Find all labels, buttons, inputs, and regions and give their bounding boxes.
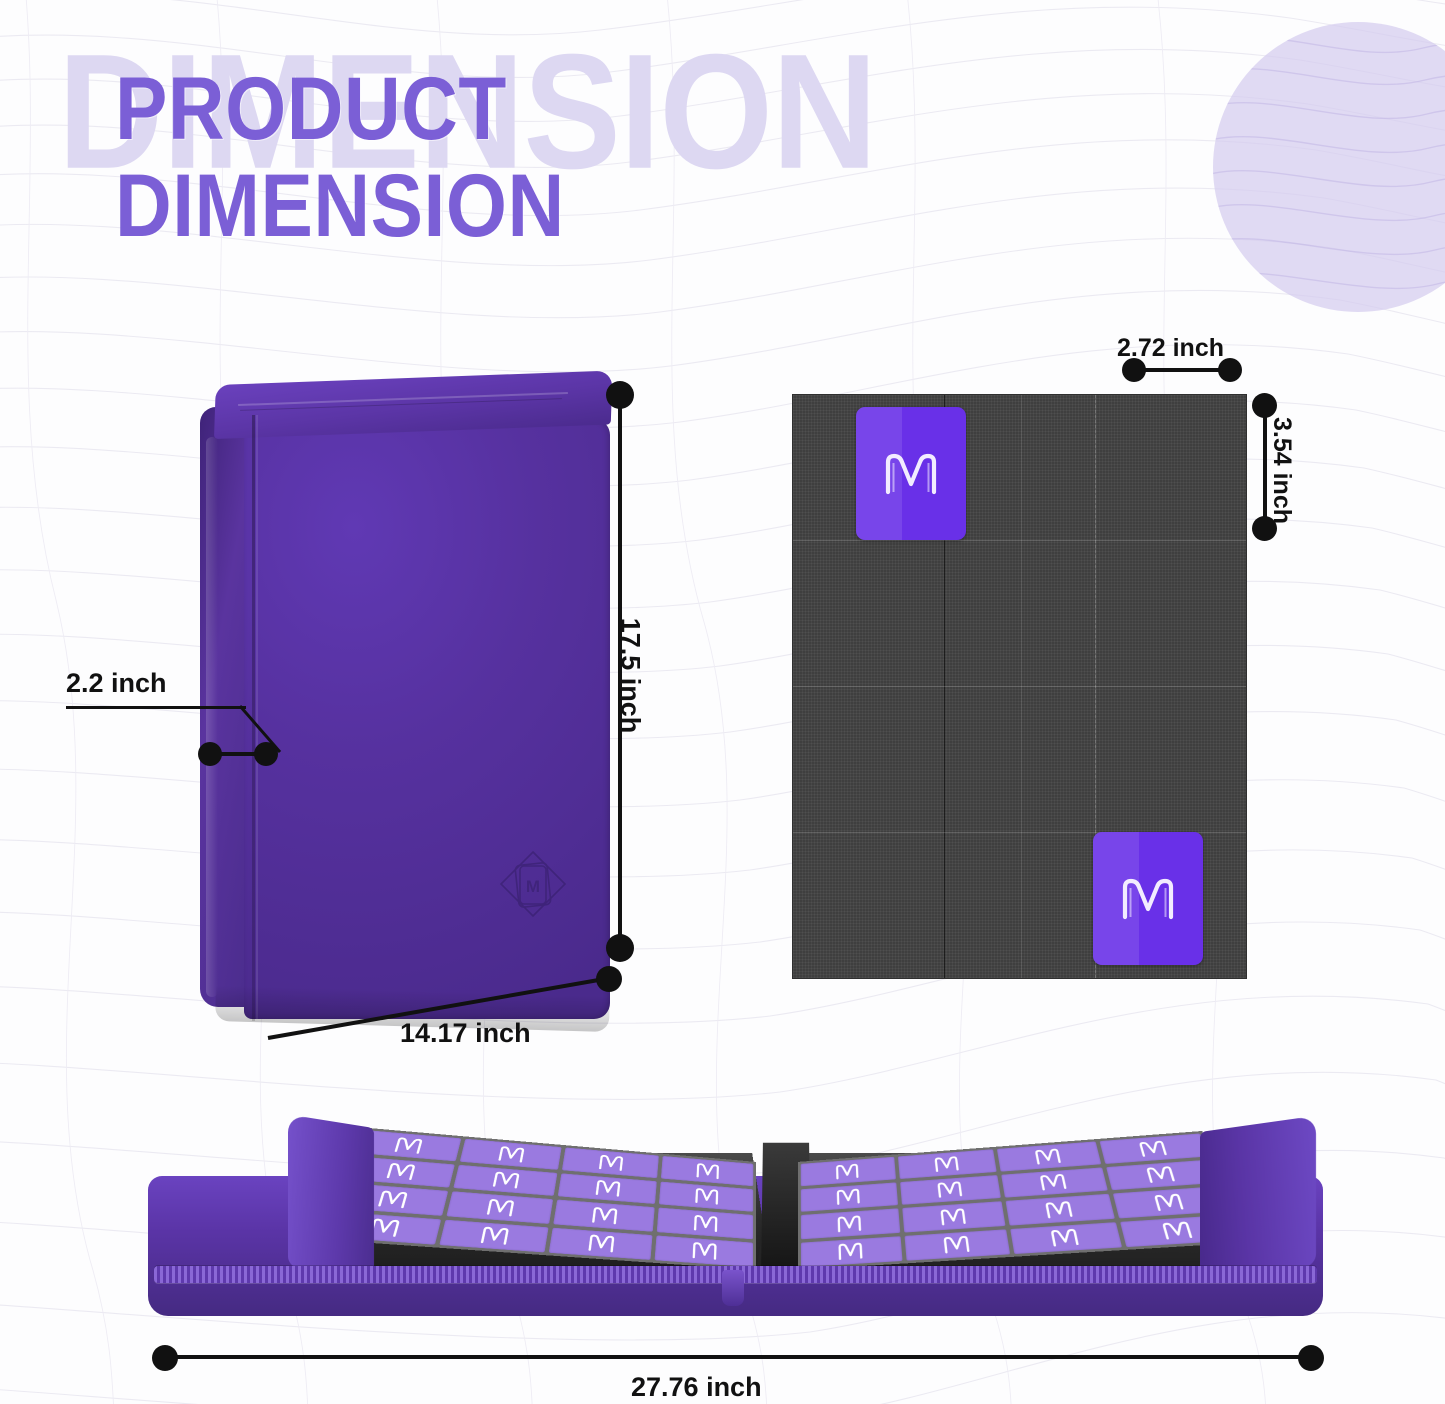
svg-text:M: M <box>526 877 540 896</box>
open-binder-card <box>900 1175 1001 1205</box>
m-logo-icon <box>693 1161 722 1181</box>
dimension-label-thickness: 2.2 inch <box>66 668 167 699</box>
open-binder-card <box>1006 1194 1115 1225</box>
m-logo-icon <box>835 1240 866 1262</box>
dimension-dot-pocket-width-left <box>1122 358 1146 382</box>
open-binder-card <box>446 1191 553 1223</box>
m-logo-icon <box>483 1196 518 1218</box>
m-logo-icon <box>1150 1191 1188 1213</box>
m-logo-icon <box>692 1186 721 1207</box>
binder-spine-highlight <box>206 437 218 997</box>
dimension-label-open-width: 27.76 inch <box>631 1372 762 1403</box>
dimension-line-open-width <box>168 1355 1308 1359</box>
m-logo-icon <box>1042 1199 1077 1221</box>
m-logo-icon <box>689 1240 720 1263</box>
open-binder-card <box>904 1229 1010 1261</box>
m-logo-icon <box>691 1212 721 1234</box>
open-binder-card <box>657 1208 753 1239</box>
m-logo-icon <box>1047 1227 1083 1250</box>
dimension-dot-pocket-height-top <box>1252 393 1277 418</box>
pocket-card-logo-bottom-right <box>1093 832 1203 965</box>
dimension-dot-width-right <box>596 966 622 992</box>
m-logo-icon <box>596 1152 627 1173</box>
open-binder-product-image <box>148 1120 1323 1330</box>
open-binder-card <box>655 1235 754 1267</box>
dimension-dot-pocket-width-right <box>1218 358 1242 382</box>
dimension-dot-thickness-start <box>198 742 222 766</box>
m-logo-icon <box>592 1178 624 1199</box>
dimension-label-pocket-height: 3.54 inch <box>1267 417 1296 524</box>
m-logo-icon <box>835 1213 865 1235</box>
m-logo-icon <box>489 1169 523 1191</box>
m-logo-icon <box>1117 873 1179 925</box>
m-logo-icon <box>931 1154 962 1174</box>
open-binder-card <box>997 1141 1101 1171</box>
open-binder-card <box>549 1227 653 1260</box>
m-logo-icon <box>880 448 942 500</box>
dimension-dot-thickness-end <box>254 742 278 766</box>
open-binder-card <box>1001 1167 1107 1198</box>
m-logo-icon <box>495 1144 528 1165</box>
m-logo-icon <box>934 1179 966 1200</box>
page-title: PRODUCT DIMENSION <box>115 66 556 261</box>
m-logo-icon <box>937 1206 969 1228</box>
open-binder-card <box>902 1201 1006 1232</box>
open-binder-card <box>801 1208 900 1239</box>
pocket-card-logo-top-left <box>856 407 966 540</box>
m-logo-icon <box>585 1232 618 1255</box>
embossed-diamond-logo-icon: M <box>496 847 570 921</box>
card-page-sheet <box>793 395 1246 978</box>
dimension-dot-open-width-right <box>1298 1345 1324 1371</box>
open-binder-card <box>659 1181 753 1212</box>
pocket-seam-horizontal-2 <box>793 686 1246 687</box>
dimension-label-width: 14.17 inch <box>400 1018 531 1049</box>
m-logo-icon <box>833 1161 862 1181</box>
open-binder-card <box>439 1219 548 1252</box>
pocket-card-top-left <box>856 407 966 540</box>
open-binder-card <box>553 1200 654 1232</box>
dimension-dot-open-width-left <box>152 1345 178 1371</box>
open-binder-card <box>1099 1133 1208 1163</box>
dimension-dot-height-top <box>606 381 634 409</box>
m-logo-icon <box>834 1187 863 1208</box>
open-binder-card <box>801 1182 898 1212</box>
m-logo-icon <box>1142 1164 1179 1185</box>
m-logo-icon <box>1036 1172 1070 1193</box>
open-binder-card <box>897 1149 996 1178</box>
m-logo-icon <box>391 1135 427 1156</box>
open-binder-card <box>801 1236 902 1267</box>
m-logo-icon <box>477 1224 513 1247</box>
open-binder-card <box>460 1139 562 1170</box>
dimension-leader-underline <box>66 706 246 709</box>
m-logo-icon <box>374 1188 412 1211</box>
open-binder-zipper-pull <box>722 1270 744 1306</box>
dimension-label-height: 17.5 inch <box>614 618 645 734</box>
dimension-dot-height-bottom <box>606 934 634 962</box>
page-header: DIMENSION PRODUCT DIMENSION <box>0 0 1445 300</box>
m-logo-icon <box>1031 1146 1064 1166</box>
open-binder-card <box>661 1156 753 1186</box>
open-binder-card <box>801 1157 896 1186</box>
m-logo-icon <box>1135 1138 1171 1159</box>
dimension-line-pocket-width <box>1134 368 1230 372</box>
open-binder-card <box>1010 1222 1121 1254</box>
pocket-seam-horizontal-1 <box>793 540 1246 541</box>
page-title-line-1: PRODUCT <box>115 66 565 154</box>
page-title-line-2: DIMENSION <box>115 163 565 251</box>
open-binder-right-flap <box>1200 1116 1316 1282</box>
m-logo-icon <box>1158 1219 1197 1242</box>
m-logo-icon <box>588 1204 621 1226</box>
m-logo-icon <box>382 1161 419 1183</box>
open-binder-card <box>562 1147 659 1177</box>
open-binder-card <box>558 1173 657 1204</box>
open-binder-left-flap <box>288 1114 374 1280</box>
m-logo-icon <box>940 1234 973 1257</box>
pocket-card-bottom-right <box>1093 832 1203 965</box>
open-binder-card <box>453 1164 557 1196</box>
